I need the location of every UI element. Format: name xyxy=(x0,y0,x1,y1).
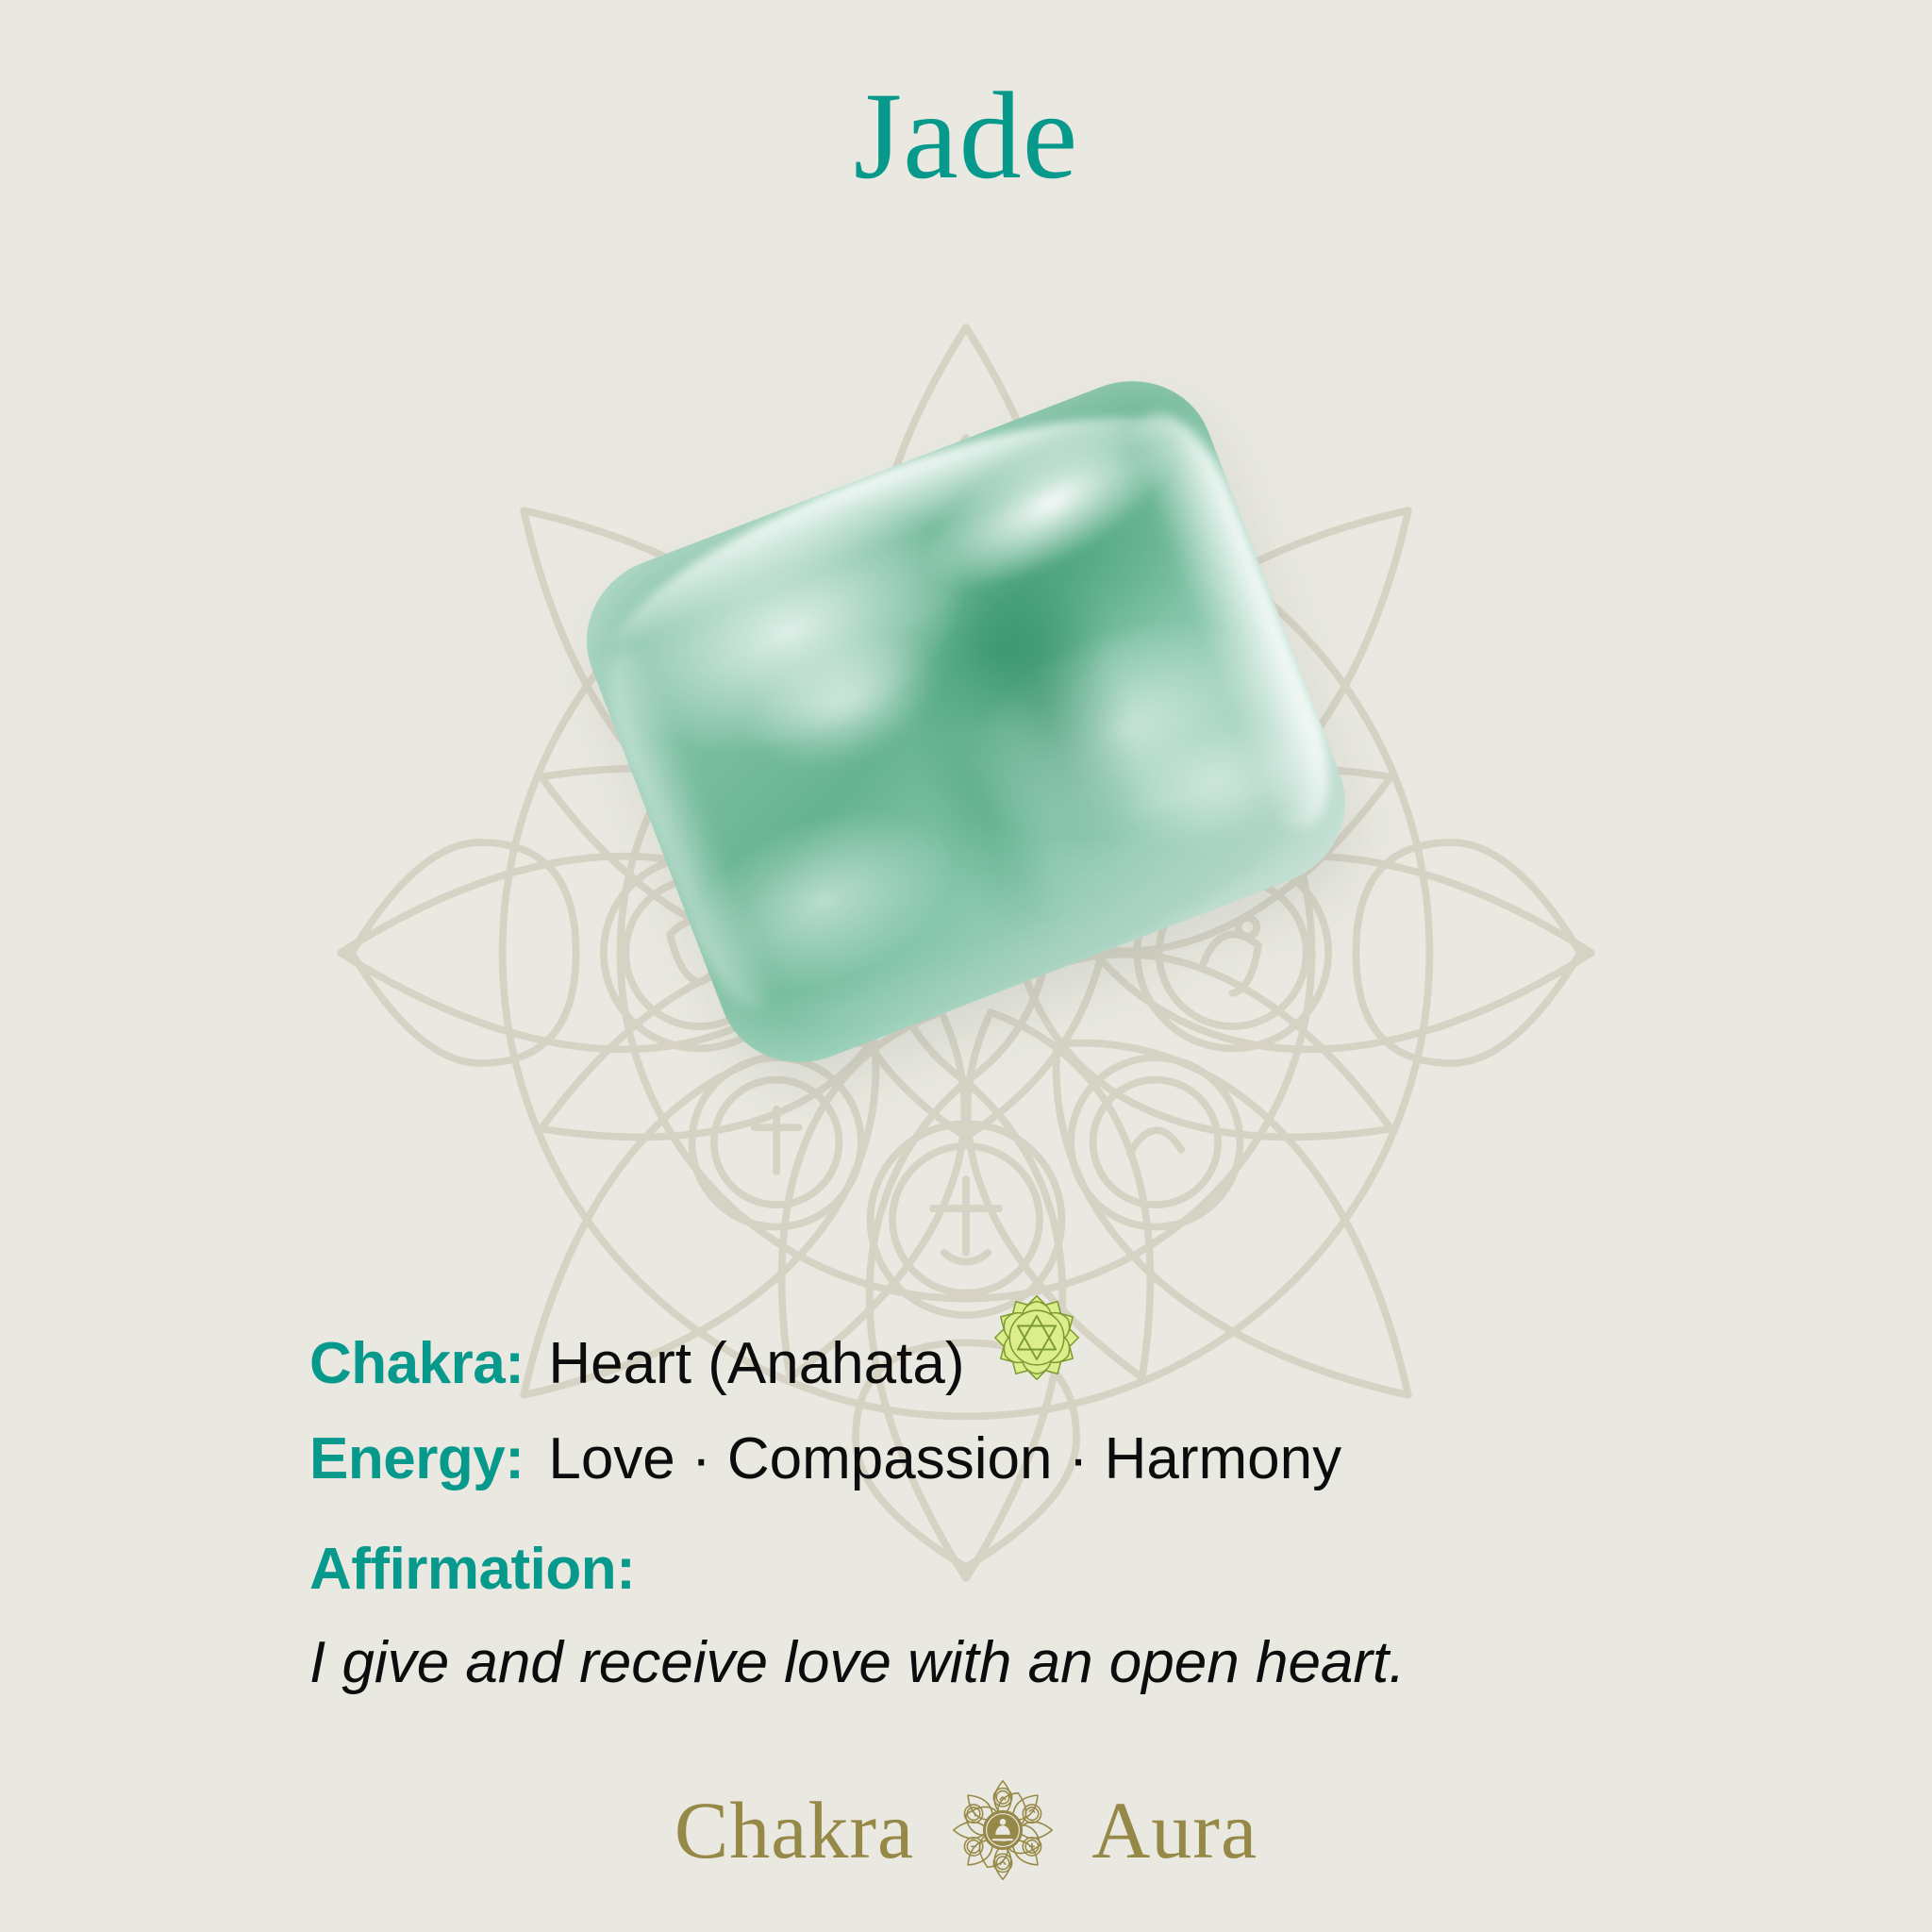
page-title: Jade xyxy=(0,74,1932,198)
chakra-row: Chakra: Heart (Anahata) xyxy=(309,1292,1649,1397)
energy-row: Energy: Love · Compassion · Harmony xyxy=(309,1425,1649,1492)
brand-word-left: Chakra xyxy=(675,1790,914,1871)
energy-value: Love · Compassion · Harmony xyxy=(548,1425,1341,1492)
stone-image xyxy=(494,344,1438,1099)
lotus-mandala-meditation-icon xyxy=(948,1775,1058,1885)
affirmation-text: I give and receive love with an open hea… xyxy=(309,1629,1649,1696)
affirmation-row: Affirmation: I give and receive love wit… xyxy=(309,1536,1649,1696)
affirmation-label: Affirmation: xyxy=(309,1536,1649,1603)
brand-word-right: Aura xyxy=(1091,1790,1257,1871)
info-block: Chakra: Heart (Anahata) xyxy=(309,1292,1649,1696)
jade-tumbled-stone-icon xyxy=(563,357,1369,1087)
energy-label: Energy: xyxy=(309,1425,524,1492)
crystal-card: Jade Chakra: Heart (Anahata) xyxy=(0,0,1932,1932)
brand-footer: Chakra xyxy=(0,1775,1932,1885)
chakra-label: Chakra: xyxy=(309,1330,524,1397)
anahata-heart-chakra-icon xyxy=(991,1292,1082,1383)
chakra-value: Heart (Anahata) xyxy=(548,1330,964,1397)
